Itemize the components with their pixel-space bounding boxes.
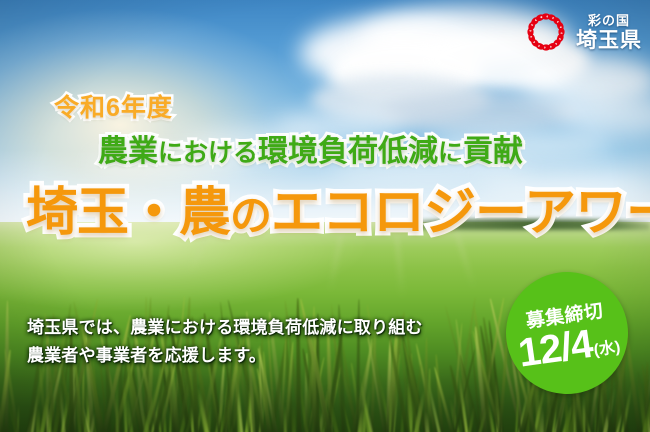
sub-headline-seg4: に [438, 139, 463, 167]
campaign-banner: 彩の国 埼玉県 令和6年度 農業における環境負荷低減に貢献 埼玉・農のエコロジー… [0, 0, 650, 432]
sub-headline-seg3: 環境負荷低減 [258, 135, 438, 168]
deadline-day-of-week: (水) [593, 340, 622, 364]
page-title: 埼玉・農のエコロジーアワード [26, 170, 650, 245]
lead-paragraph: 埼玉県では、農業における環境負荷低減に取り組む 農業者や事業者を応援します。 [27, 314, 423, 369]
fiscal-year-label: 令和6年度 [54, 88, 173, 124]
lead-line-1: 埼玉県では、農業における環境負荷低減に取り組む [27, 314, 423, 342]
sub-headline: 農業における環境負荷低減に貢献 [98, 126, 523, 170]
logo-subtitle: 彩の国 [588, 14, 630, 27]
title-seg3: エコロジーアワード [271, 184, 650, 242]
logo-title: 埼玉県 [576, 30, 642, 51]
saitama-flower-emblem-icon [523, 9, 569, 55]
sub-headline-seg1: 農業 [98, 135, 158, 168]
sub-headline-seg5: 貢献 [463, 135, 523, 168]
saitama-prefecture-logo: 彩の国 埼玉県 [523, 9, 642, 55]
deadline-date-number: 12/4 [516, 324, 595, 374]
sub-headline-seg2: における [158, 139, 258, 167]
title-seg1: 埼玉・農 [26, 184, 230, 242]
lead-line-2: 農業者や事業者を応援します。 [27, 342, 423, 370]
title-seg2: の [230, 192, 271, 239]
